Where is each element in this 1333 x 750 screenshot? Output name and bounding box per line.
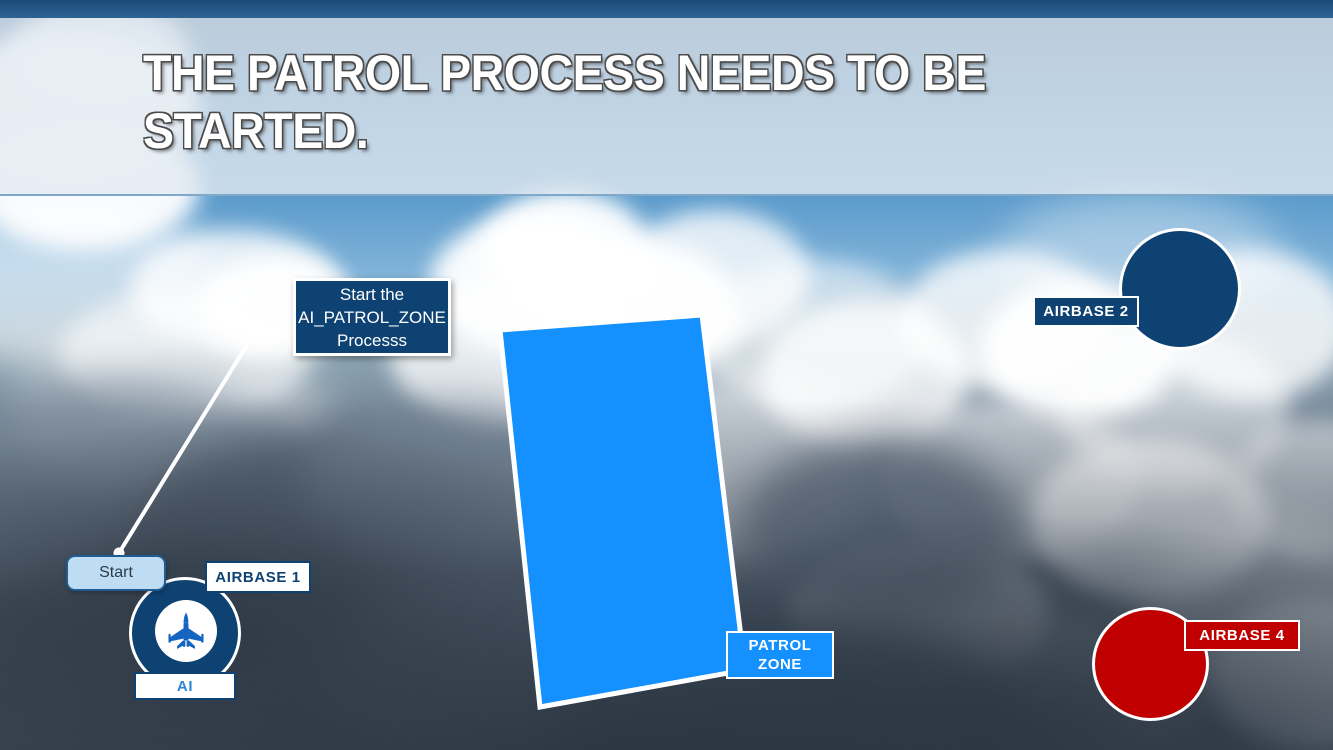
airbase-2-circle[interactable] (1119, 228, 1241, 350)
page-title: THE PATROL PROCESS NEEDS TO BE STARTED. (143, 44, 1073, 160)
patrol-zone-label[interactable]: PATROL ZONE (726, 631, 834, 679)
slide-canvas: THE PATROL PROCESS NEEDS TO BE STARTED. … (0, 0, 1333, 750)
start-button[interactable]: Start (66, 555, 166, 591)
airbase-4-label[interactable]: AIRBASE 4 (1184, 620, 1300, 651)
start-button-label: Start (99, 564, 133, 582)
ai-label[interactable]: AI (134, 672, 236, 700)
airbase-2-label[interactable]: AIRBASE 2 (1033, 296, 1139, 327)
fighter-jet-icon (155, 600, 217, 662)
patrol-zone-polygon[interactable] (500, 315, 745, 707)
callout-text: Start the AI_PATROL_ZONE Processs (298, 283, 446, 352)
connector-endpoint-callout (275, 286, 286, 297)
callout-start-process[interactable]: Start the AI_PATROL_ZONE Processs (293, 278, 451, 356)
top-accent-strip (0, 0, 1333, 18)
airbase-1-label[interactable]: AIRBASE 1 (205, 561, 311, 593)
